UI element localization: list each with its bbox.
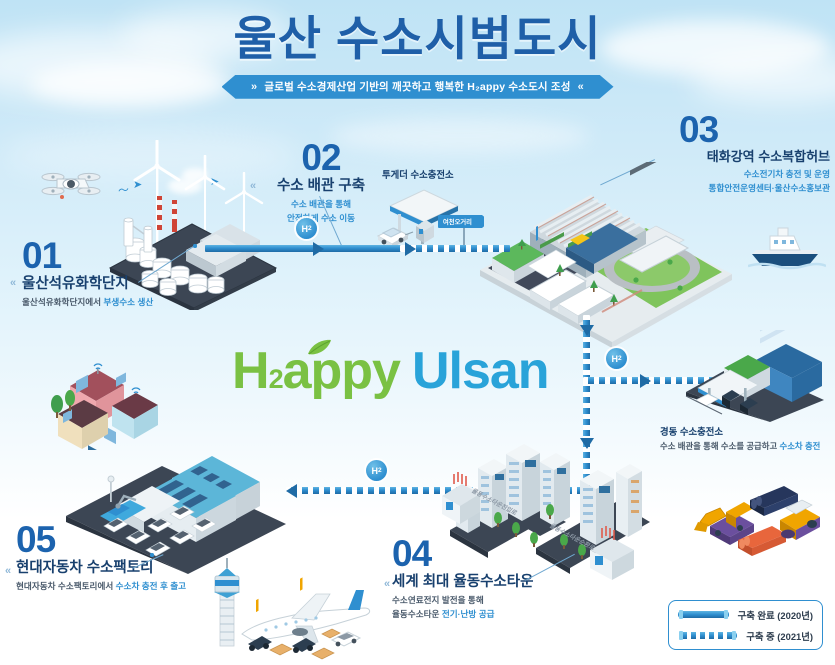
construction-equipment-illustration — [692, 478, 824, 563]
airport-illustration — [196, 548, 376, 658]
section-04: 04 세계 최대 율동수소타운 수소연료전지 발전을 통해 율동수소타운 전기·… — [392, 536, 533, 620]
section-02-quote: « — [250, 180, 256, 192]
logo-h-subscript: 2 — [269, 364, 283, 394]
section-05-number: 05 — [16, 522, 186, 557]
pipeline-segment-station-to-hub — [400, 245, 510, 252]
legend-line-cap — [732, 631, 736, 640]
chevron-left-icon: « — [578, 81, 584, 93]
section-01-desc-plain: 울산석유화학단지에서 — [22, 297, 103, 307]
legend-line-cap — [679, 631, 683, 640]
section-05-desc: 현대자동차 수소팩토리에서 수소차 충전 후 출고 — [16, 580, 186, 592]
h2-badge-sub: 2 — [618, 355, 622, 362]
page-title: 울산 수소시범도시 — [0, 14, 835, 65]
legend: 구축 완료 (2020년) 구축 중 (2021년) — [668, 600, 823, 650]
legend-line-solid — [678, 611, 729, 618]
pipeline-arrow-right — [313, 242, 324, 256]
h2-badge-sub: 2 — [308, 225, 312, 232]
subtitle-banner: » 글로벌 수소경제산업 기반의 깨끗하고 행복한 H₂appy 수소도시 조성… — [222, 75, 614, 99]
pipe-badge-1: H2 — [296, 218, 317, 239]
pipe-badge-3: H2 — [366, 460, 387, 481]
taehwagang-hub-illustration — [470, 162, 740, 347]
section-05-desc-highlight: 수소차 충전 후 출고 — [116, 581, 186, 591]
section-05-desc-plain: 현대자동차 수소팩토리에서 — [16, 581, 116, 591]
section-04-title: 세계 최대 율동수소타운 — [392, 573, 533, 591]
legend-line-cap — [679, 610, 683, 619]
drone-illustration — [40, 168, 102, 202]
section-01: 01 울산석유화학단지 울산석유화학단지에서 부생수소 생산 — [22, 238, 153, 309]
section-05-title: 현대자동차 수소팩토리 — [16, 559, 186, 577]
section-04-quote: « — [384, 578, 390, 590]
pipeline-arrow-right — [405, 242, 416, 256]
pipeline-segment-complex-to-station — [205, 245, 405, 252]
section-02-desc-line2: 안전하게 수소 이동 — [258, 212, 384, 224]
section-02-title: 수소 배관 구축 — [258, 177, 384, 195]
logo-h: H — [232, 342, 269, 400]
section-02-number: 02 — [258, 140, 384, 175]
subtitle-text: 글로벌 수소경제산업 기반의 깨끗하고 행복한 H₂appy 수소도시 조성 — [264, 79, 570, 94]
brand-logo: H2appyUlsan — [232, 340, 552, 402]
section-03-number: 03 — [679, 112, 830, 147]
section-01-desc-highlight: 부생수소 생산 — [103, 297, 153, 307]
place-desc-gyeongdong-highlight: 수소차 충전 — [780, 441, 821, 451]
pipeline-arrow-right — [640, 374, 651, 388]
section-01-number: 01 — [22, 238, 153, 273]
gyeongdong-hydrogen-station-illustration — [682, 330, 828, 420]
title-block: 울산 수소시범도시 » 글로벌 수소경제산업 기반의 깨끗하고 행복한 H₂ap… — [0, 14, 835, 99]
section-05-quote: « — [5, 565, 11, 577]
ship-illustration — [748, 222, 826, 270]
h2-badge-sub: 2 — [378, 467, 382, 474]
logo-ulsan: Ulsan — [412, 342, 549, 400]
section-04-desc-line2-highlight: 전기·난방 공급 — [442, 609, 495, 619]
chevron-right-icon: » — [251, 81, 257, 93]
section-01-quote: « — [10, 277, 16, 289]
section-02: 02 수소 배관 구축 수소 배관을 통해 안전하게 수소 이동 — [258, 140, 384, 224]
place-label-together-station: 투게더 수소충전소 — [382, 167, 454, 181]
section-01-desc: 울산석유화학단지에서 부생수소 생산 — [22, 296, 153, 308]
legend-label-inprogress: 구축 중 (2021년) — [746, 629, 813, 643]
pipeline-arrow-down — [580, 325, 594, 336]
section-01-title: 울산석유화학단지 — [22, 275, 153, 293]
place-desc-gyeongdong: 수소 배관을 통해 수소를 공급하고 수소차 충전 — [660, 440, 820, 452]
place-title-together: 투게더 수소충전소 — [382, 167, 454, 181]
legend-line-dashed — [678, 632, 737, 639]
section-01-leader-dot — [193, 244, 197, 248]
section-03-quote: » — [826, 152, 830, 161]
place-label-gyeongdong-station: 경동 수소충전소 수소 배관을 통해 수소를 공급하고 수소차 충전 — [660, 424, 820, 452]
section-05: 05 현대자동차 수소팩토리 현대자동차 수소팩토리에서 수소차 충전 후 출고 — [16, 522, 186, 593]
section-04-desc-line2: 율동수소타운 전기·난방 공급 — [392, 608, 533, 620]
smoke-decoration — [182, 168, 208, 182]
logo-appy: appy — [283, 342, 400, 400]
section-04-desc-line2-plain: 율동수소타운 — [392, 609, 442, 619]
section-05-leader-dot — [150, 553, 154, 557]
section-04-number: 04 — [392, 536, 533, 571]
place-desc-gyeongdong-plain: 수소 배관을 통해 수소를 공급하고 — [660, 441, 780, 451]
pipe-badge-2: H2 — [606, 348, 627, 369]
place-title-gyeongdong: 경동 수소충전소 — [660, 424, 820, 438]
infographic-canvas: 울산 수소시범도시 » 글로벌 수소경제산업 기반의 깨끗하고 행복한 H₂ap… — [0, 0, 835, 665]
legend-label-complete: 구축 완료 (2020년) — [738, 608, 813, 622]
legend-row-complete: 구축 완료 (2020년) — [678, 608, 813, 622]
legend-row-inprogress: 구축 중 (2021년) — [678, 629, 813, 643]
leaf-icon — [306, 339, 332, 357]
legend-line-cap — [724, 610, 728, 619]
section-04-desc-line1: 수소연료전지 발전을 통해 — [392, 594, 533, 606]
